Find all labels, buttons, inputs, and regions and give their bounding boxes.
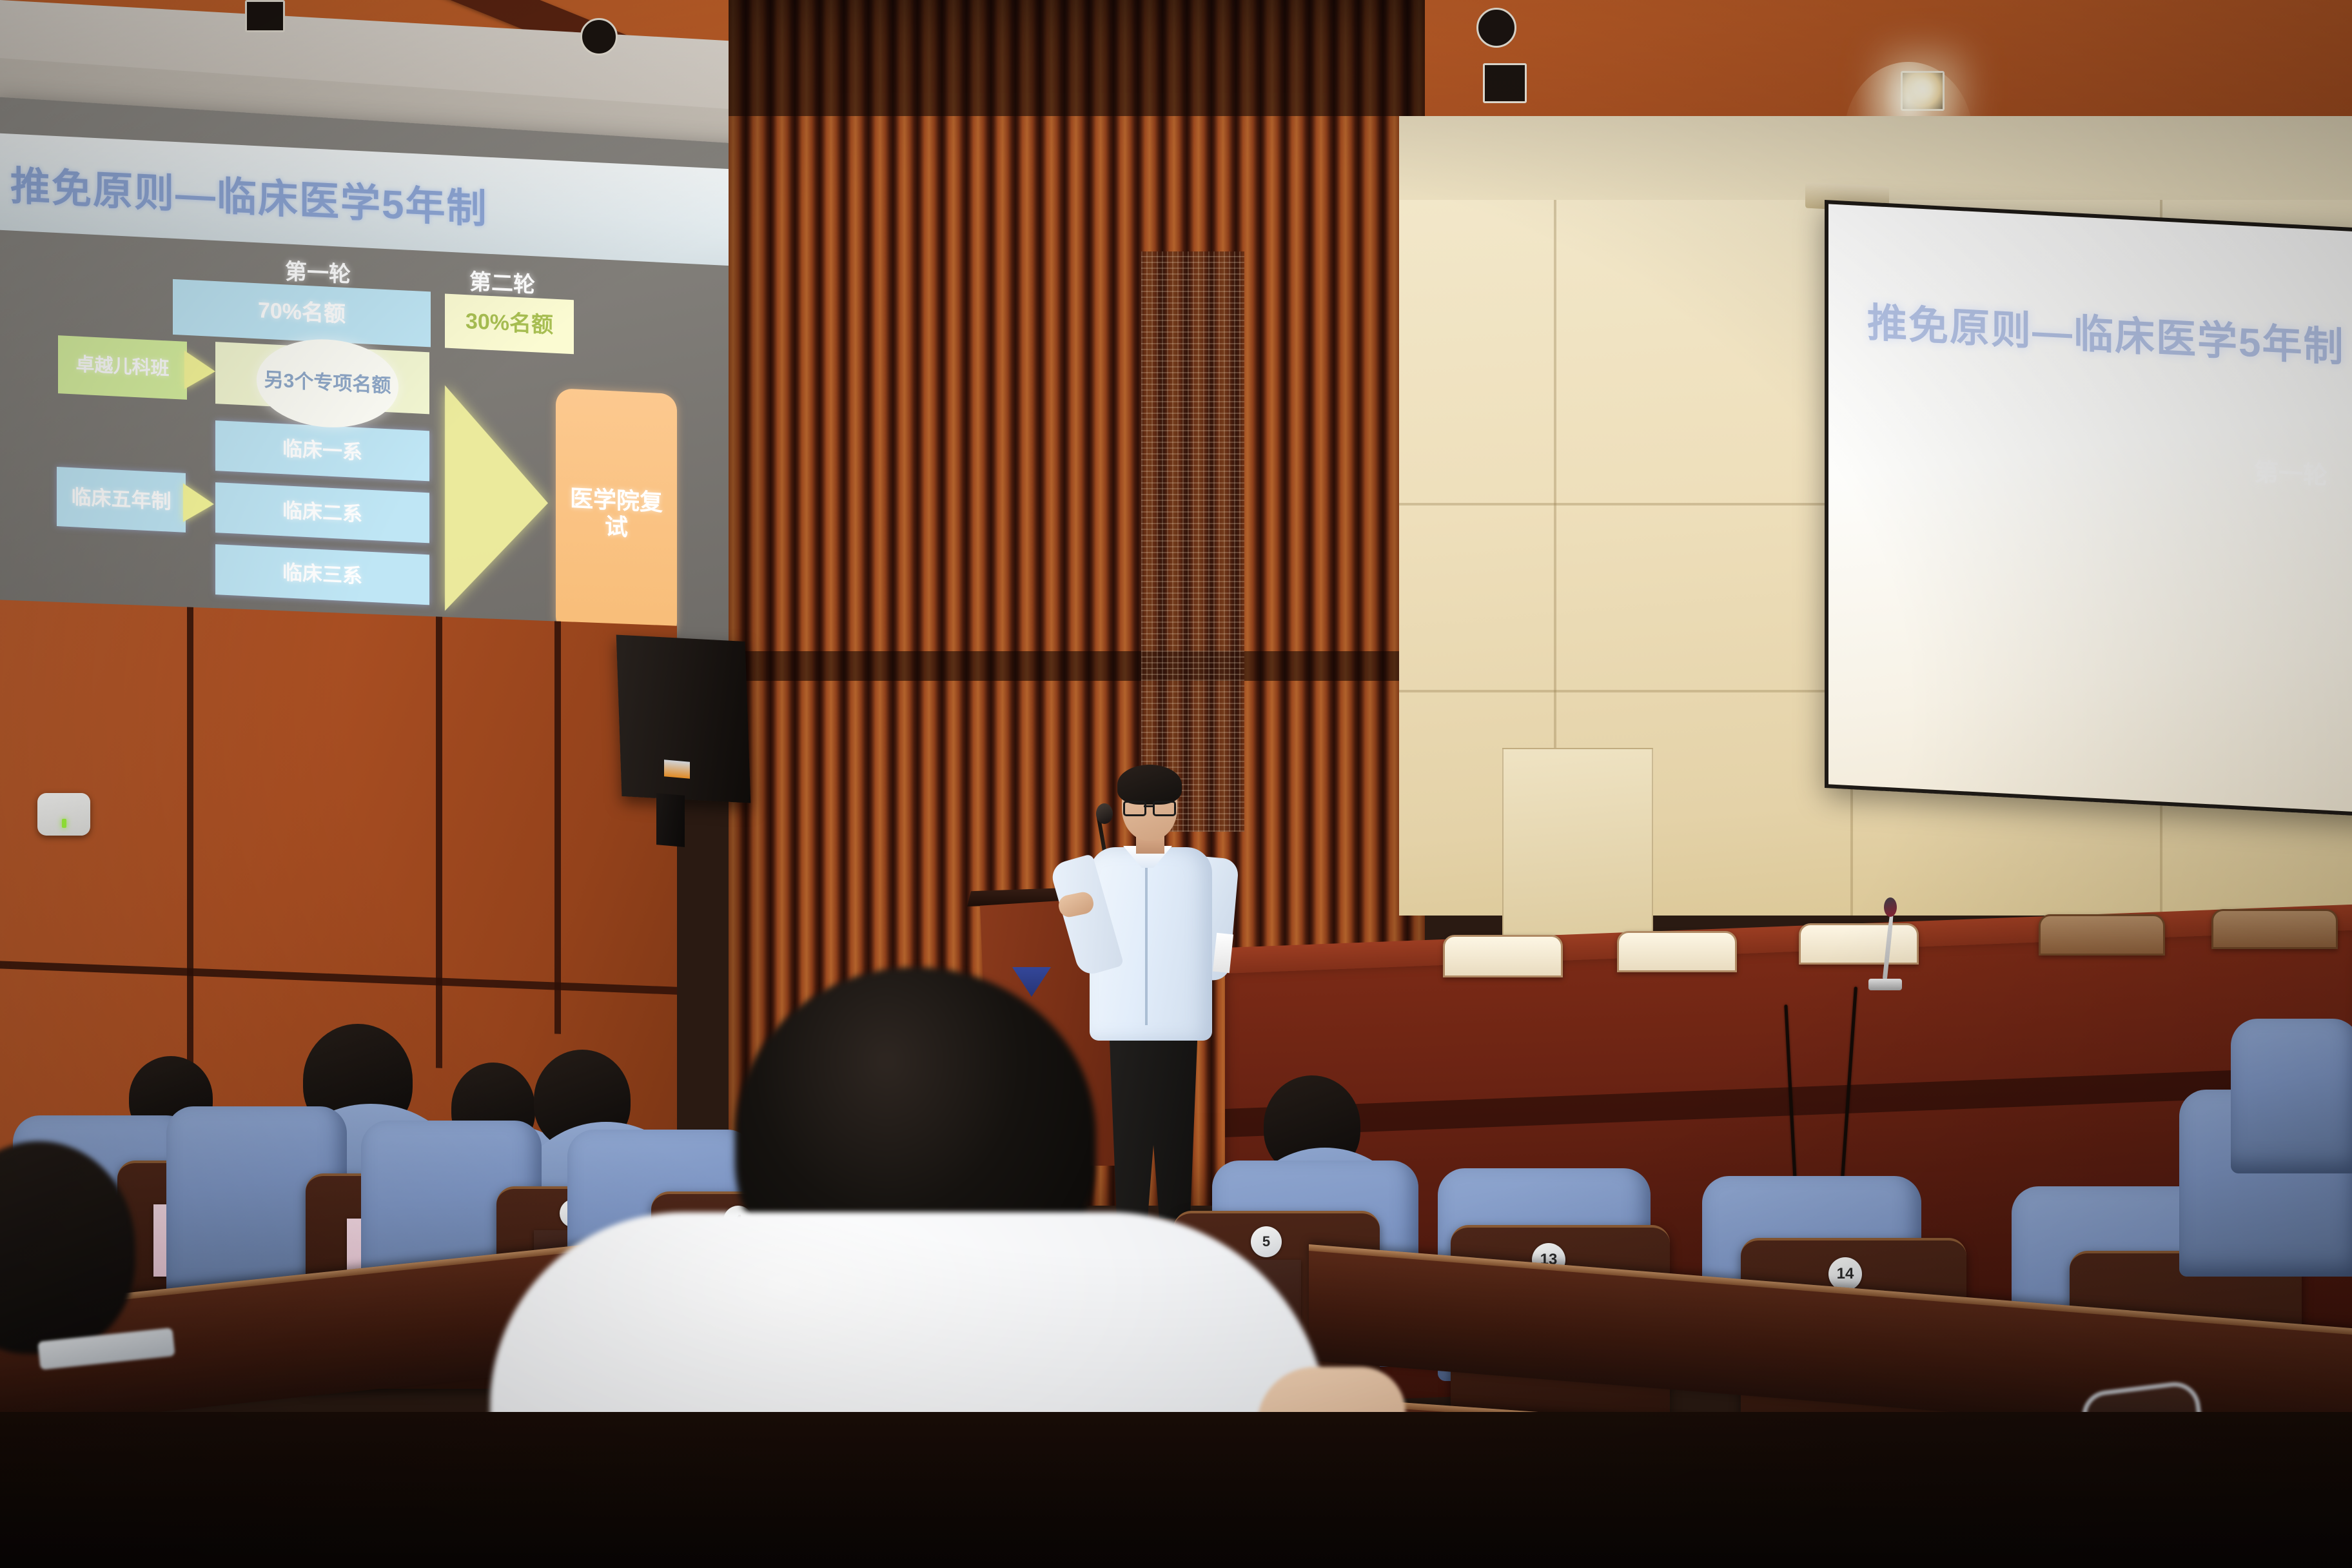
wall-seam xyxy=(187,607,193,1097)
slide-diagram: 第一轮 第二轮 70%名额 30%名额 卓越儿科班 临床五年制 儿科学院 临床一… xyxy=(0,234,754,658)
column-header-round2: 第二轮 xyxy=(469,264,535,299)
wall-access-panel xyxy=(1502,748,1653,944)
podium-microphone-head-icon xyxy=(1096,803,1113,824)
right-slide-title: 推免原则—临床医学5年制 xyxy=(1867,289,2344,373)
microphone-head-icon xyxy=(1884,897,1897,917)
arrow-right-icon xyxy=(184,351,215,391)
source-box-clinical-5year: 临床五年制 xyxy=(57,467,186,533)
glasses-lens-right xyxy=(1153,801,1176,816)
floor-shadow xyxy=(0,1412,2352,1568)
target-box-clinical-dept1: 临床一系 xyxy=(215,420,429,481)
stage-chair xyxy=(2039,914,2165,955)
target-box-clinical-dept2: 临床二系 xyxy=(215,482,429,543)
slat-band xyxy=(729,651,1425,681)
status-led-icon xyxy=(62,819,66,828)
final-box-college-reexam: 医学院复试 xyxy=(556,388,677,639)
stage-chair xyxy=(2211,909,2338,949)
right-projection-screen: 推免原则—临床医学5年制 第一轮 xyxy=(1825,200,2352,818)
quota-box-70: 70%名额 xyxy=(173,279,431,348)
recessed-spotlight xyxy=(245,0,285,32)
recessed-spotlight xyxy=(1476,8,1516,48)
recessed-spotlight-lit xyxy=(1901,71,1945,111)
speaker-mount-bracket xyxy=(656,793,685,847)
seat-number-badge: 14 xyxy=(1828,1257,1862,1291)
slide-title: 推免原则—临床医学5年制 xyxy=(10,153,487,235)
wifi-access-point xyxy=(37,793,90,836)
recessed-spotlight xyxy=(1483,63,1527,103)
target-box-clinical-dept3: 临床三系 xyxy=(215,544,429,605)
slat-mesh-insert xyxy=(1141,251,1244,832)
source-box-excellent-pediatrics: 卓越儿科班 xyxy=(58,335,187,400)
slat-band xyxy=(729,0,1425,116)
glasses-lens-left xyxy=(1123,801,1146,816)
microphone-base xyxy=(1868,979,1902,990)
quota-box-30: 30%名额 xyxy=(445,294,574,355)
glasses-icon xyxy=(1123,801,1173,812)
stage-chair xyxy=(1617,931,1737,972)
auditorium-scene: 推免原则—临床医学5年制 第一轮 第二轮 70%名额 30%名额 卓越儿科班 临… xyxy=(0,0,2352,1568)
recessed-spotlight xyxy=(580,18,618,55)
right-slide-subtitle: 第一轮 xyxy=(2254,452,2327,491)
seat-cushion[interactable] xyxy=(2231,1019,2352,1173)
glasses-bridge xyxy=(1144,805,1153,807)
stage-chair xyxy=(1443,935,1563,977)
left-projection-screen: 推免原则—临床医学5年制 第一轮 第二轮 70%名额 30%名额 卓越儿科班 临… xyxy=(0,97,754,660)
speaker-brand-badge xyxy=(664,759,690,778)
arrow-right-large-icon xyxy=(445,386,548,616)
arrow-right-icon xyxy=(183,484,214,524)
column-header-round1: 第一轮 xyxy=(285,253,351,288)
wall-seam xyxy=(436,616,442,1068)
stage-chair xyxy=(1799,923,1919,965)
presenter-hair xyxy=(1117,765,1182,805)
